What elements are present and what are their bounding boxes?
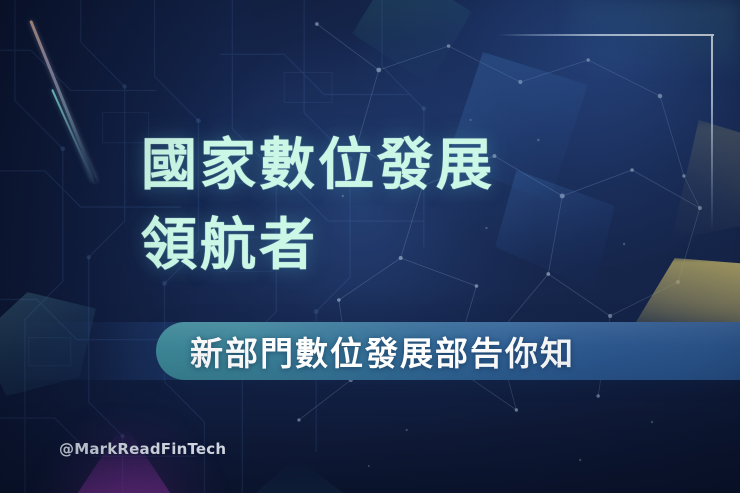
headline-line-1: 國家數位發展 xyxy=(141,126,661,206)
headline-block: 國家數位發展 領航者 xyxy=(141,126,661,286)
headline-line-2: 領航者 xyxy=(141,206,661,286)
corner-frame-vertical xyxy=(711,34,713,232)
subtitle-text: 新部門數位發展部告你知 xyxy=(190,322,575,380)
banner-canvas: 國家數位發展 領航者 新部門數位發展部告你知 @MarkReadFinTech xyxy=(0,0,740,493)
social-handle: @MarkReadFinTech xyxy=(59,440,226,458)
corner-frame-horizontal xyxy=(498,34,714,36)
